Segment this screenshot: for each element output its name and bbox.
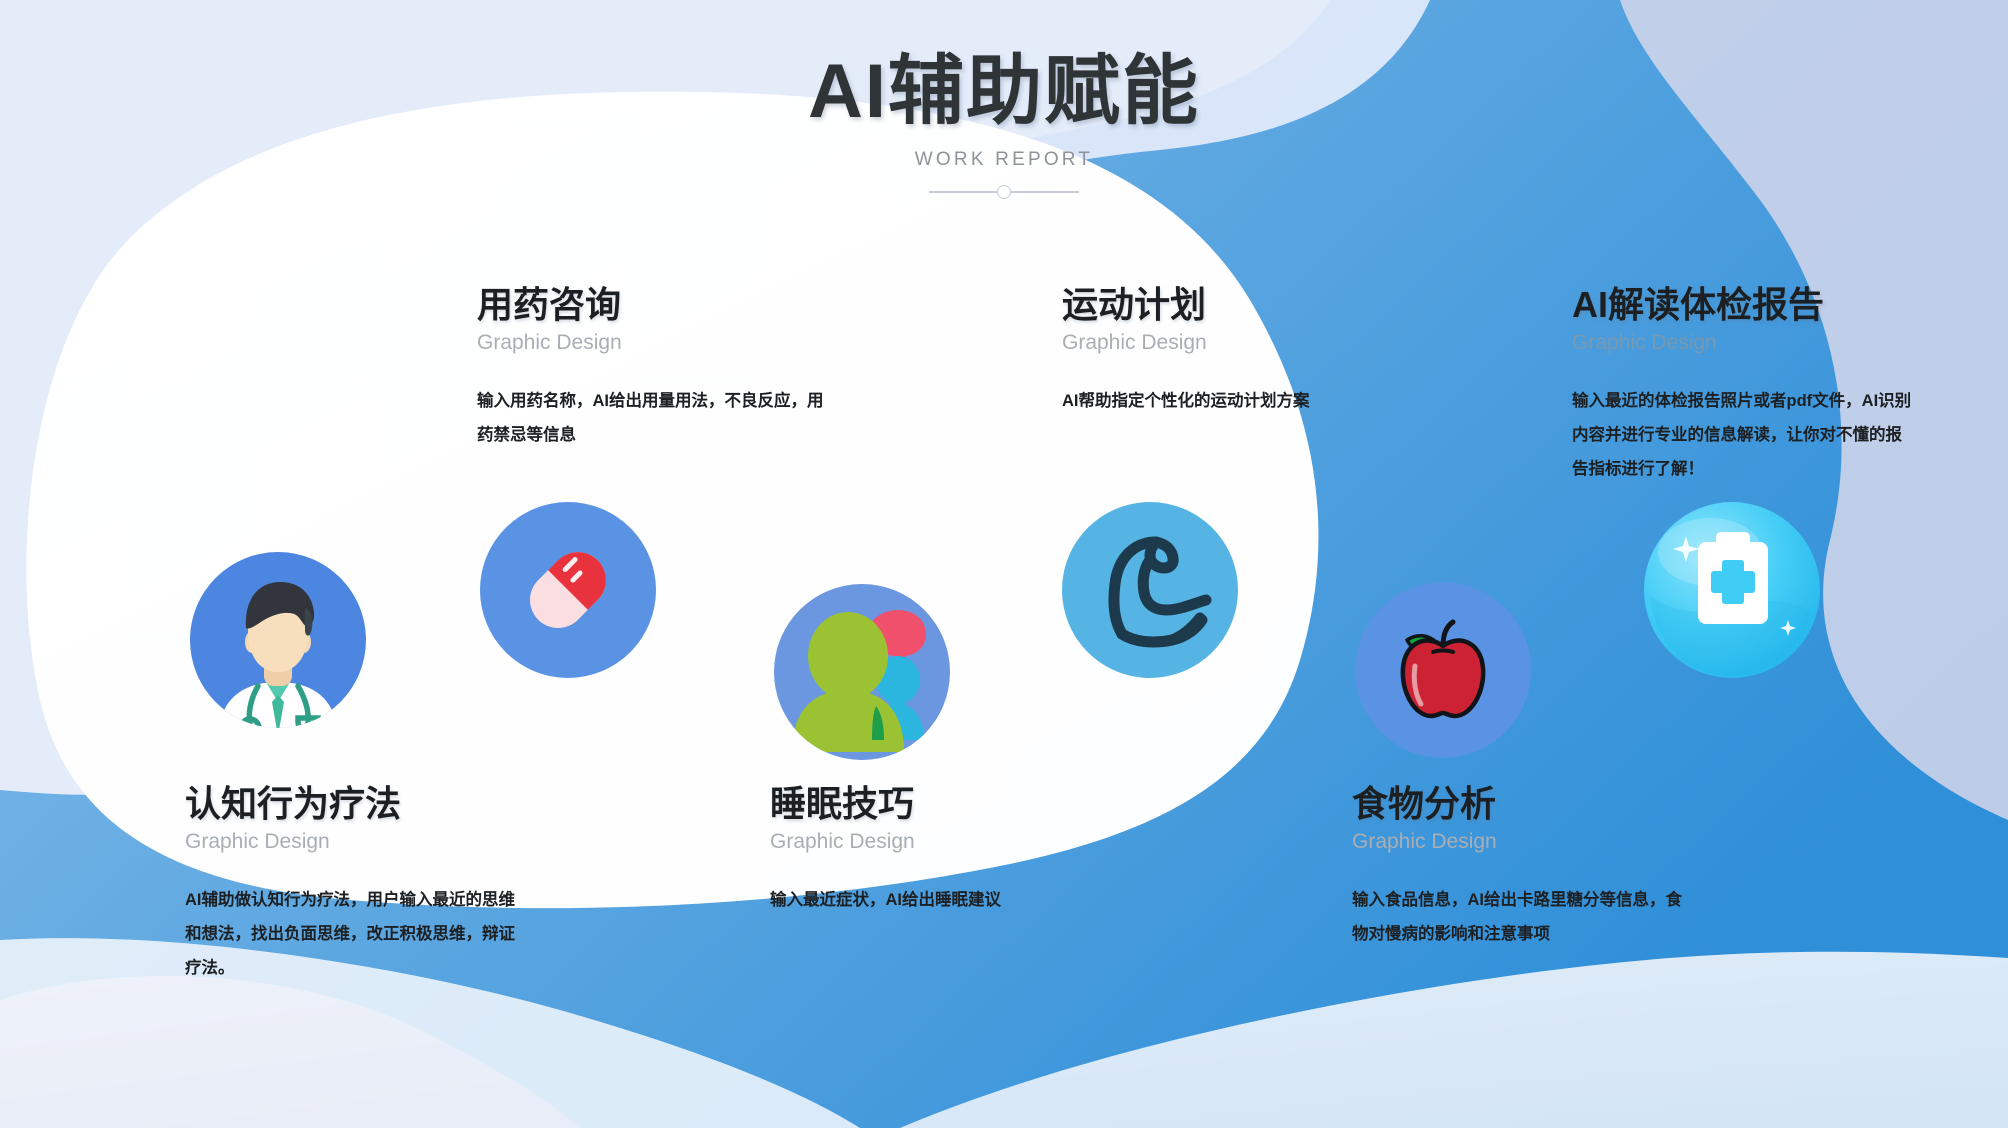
block-title: 认知行为疗法 <box>185 782 515 825</box>
icon-red-apple <box>1353 580 1533 760</box>
icon-medical-clipboard <box>1642 500 1822 680</box>
icon-flexed-bicep <box>1060 500 1240 680</box>
page-title: AI辅助赋能 <box>0 48 2008 135</box>
block-body: 输入食品信息，AI给出卡路里糖分等信息，食物对慢病的影响和注意事项 <box>1352 884 1692 952</box>
block-body: AI辅助做认知行为疗法，用户输入最近的思维和想法，找出负面思维，改正积极思维，辩… <box>185 884 515 985</box>
doctor-avatar-icon <box>188 550 368 730</box>
block-body: 输入最近症状，AI给出睡眠建议 <box>770 884 1090 918</box>
pill-capsule-icon <box>478 500 658 680</box>
block-subtitle: Graphic Design <box>1352 830 1692 854</box>
icon-two-people-chat <box>772 582 952 762</box>
block-cbt: 认知行为疗法 Graphic Design AI辅助做认知行为疗法，用户输入最近… <box>185 782 515 986</box>
red-apple-icon <box>1353 580 1533 760</box>
block-food: 食物分析 Graphic Design 输入食品信息，AI给出卡路里糖分等信息，… <box>1352 782 1692 952</box>
block-report: AI解读体检报告 Graphic Design 输入最近的体检报告照片或者pdf… <box>1572 283 1912 487</box>
block-subtitle: Graphic Design <box>1062 331 1392 355</box>
block-subtitle: Graphic Design <box>1572 331 1912 355</box>
header-divider <box>929 185 1079 199</box>
slide-header: AI辅助赋能 WORK REPORT <box>0 48 2008 199</box>
block-title: AI解读体检报告 <box>1572 283 1912 326</box>
block-body: 输入用药名称，AI给出用量用法，不良反应，用药禁忌等信息 <box>477 385 827 453</box>
two-people-chat-icon <box>772 582 952 762</box>
icon-pill-capsule <box>478 500 658 680</box>
slide-canvas: AI辅助赋能 WORK REPORT 用药咨询 Graphic Design 输… <box>0 0 2008 1128</box>
block-sleep: 睡眠技巧 Graphic Design 输入最近症状，AI给出睡眠建议 <box>770 782 1090 918</box>
block-title: 运动计划 <box>1062 283 1392 326</box>
divider-dot-icon <box>997 185 1011 199</box>
block-subtitle: Graphic Design <box>185 830 515 854</box>
block-body: AI帮助指定个性化的运动计划方案 <box>1062 385 1392 419</box>
block-exercise: 运动计划 Graphic Design AI帮助指定个性化的运动计划方案 <box>1062 283 1392 419</box>
block-title: 食物分析 <box>1352 782 1692 825</box>
block-body: 输入最近的体检报告照片或者pdf文件，AI识别内容并进行专业的信息解读，让你对不… <box>1572 385 1912 486</box>
page-subtitle: WORK REPORT <box>0 149 2008 171</box>
medical-clipboard-icon <box>1642 500 1822 680</box>
flexed-bicep-icon <box>1060 500 1240 680</box>
block-title: 用药咨询 <box>477 283 827 326</box>
block-subtitle: Graphic Design <box>477 331 827 355</box>
block-title: 睡眠技巧 <box>770 782 1090 825</box>
block-medication: 用药咨询 Graphic Design 输入用药名称，AI给出用量用法，不良反应… <box>477 283 827 453</box>
icon-doctor-avatar <box>188 550 368 730</box>
block-subtitle: Graphic Design <box>770 830 1090 854</box>
